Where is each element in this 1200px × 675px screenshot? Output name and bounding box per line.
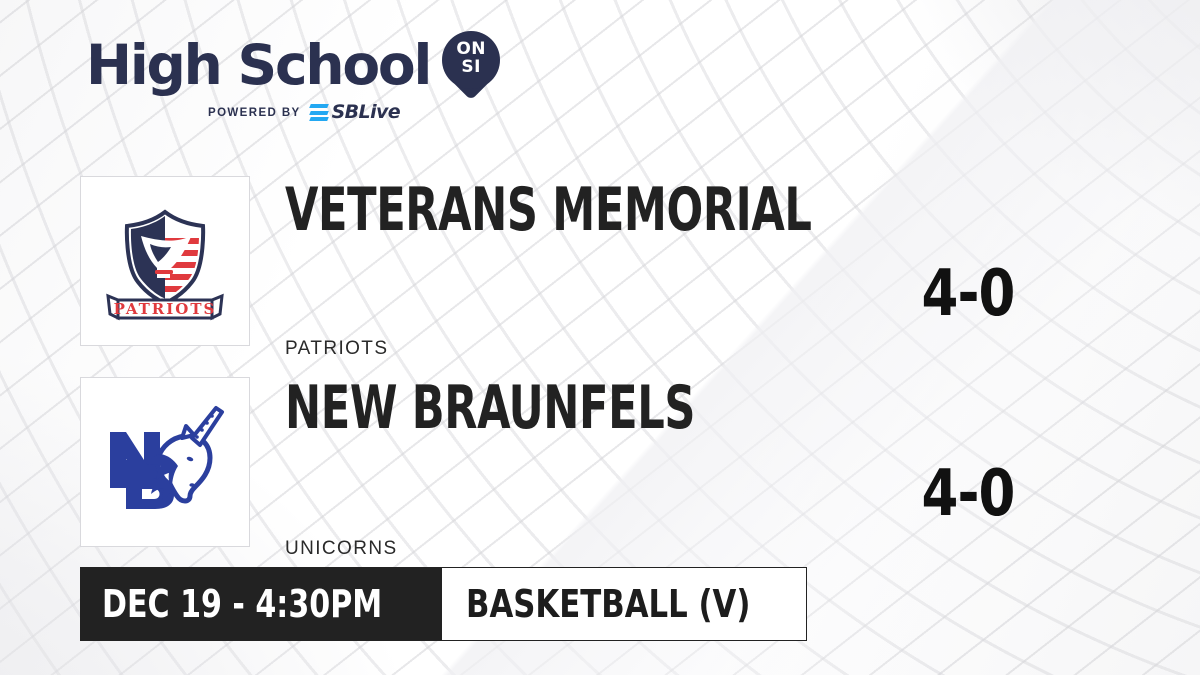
brand-lockup: High School ON SI POWERED BY SBLive	[86, 34, 516, 134]
game-sport-label: BASKETBALL (V)	[466, 585, 750, 623]
team-name: NEW BRAUNFELS	[285, 378, 695, 438]
powered-by-row: POWERED BY SBLive	[86, 103, 516, 122]
brand-wordmark: High School	[86, 36, 430, 94]
sblive-s-icon	[310, 103, 328, 122]
team-mascot: UNICORNS	[285, 538, 398, 560]
matchup-graphic: High School ON SI POWERED BY SBLive	[0, 0, 1200, 675]
game-info-bar: DEC 19 - 4:30PM BASKETBALL (V)	[80, 567, 807, 641]
veterans-memorial-patriots-logo: PATRIOTS	[100, 196, 230, 326]
team-record: 4-0	[876, 462, 1060, 526]
pin-label-line1: ON	[442, 40, 500, 58]
sblive-wordmark: SBLive	[332, 103, 400, 122]
game-sport-panel: BASKETBALL (V)	[442, 567, 807, 641]
team-record: 4-0	[876, 262, 1060, 326]
game-datetime-panel: DEC 19 - 4:30PM	[80, 567, 442, 641]
game-datetime-label: DEC 19 - 4:30PM	[102, 585, 382, 623]
brand-title-row: High School ON SI	[86, 34, 516, 96]
on-si-pin-icon: ON SI	[442, 31, 500, 103]
new-braunfels-unicorns-logo	[100, 402, 230, 522]
svg-text:PATRIOTS: PATRIOTS	[114, 300, 217, 318]
pin-label: ON SI	[442, 40, 500, 76]
team-mascot: PATRIOTS	[285, 338, 388, 360]
pin-label-line2: SI	[442, 58, 500, 76]
team-name: VETERANS MEMORIAL	[285, 180, 811, 240]
sblive-logo: SBLive	[310, 103, 400, 122]
powered-by-label: POWERED BY	[208, 107, 301, 119]
team-logo-container	[80, 377, 250, 547]
team-logo-container: PATRIOTS	[80, 176, 250, 346]
